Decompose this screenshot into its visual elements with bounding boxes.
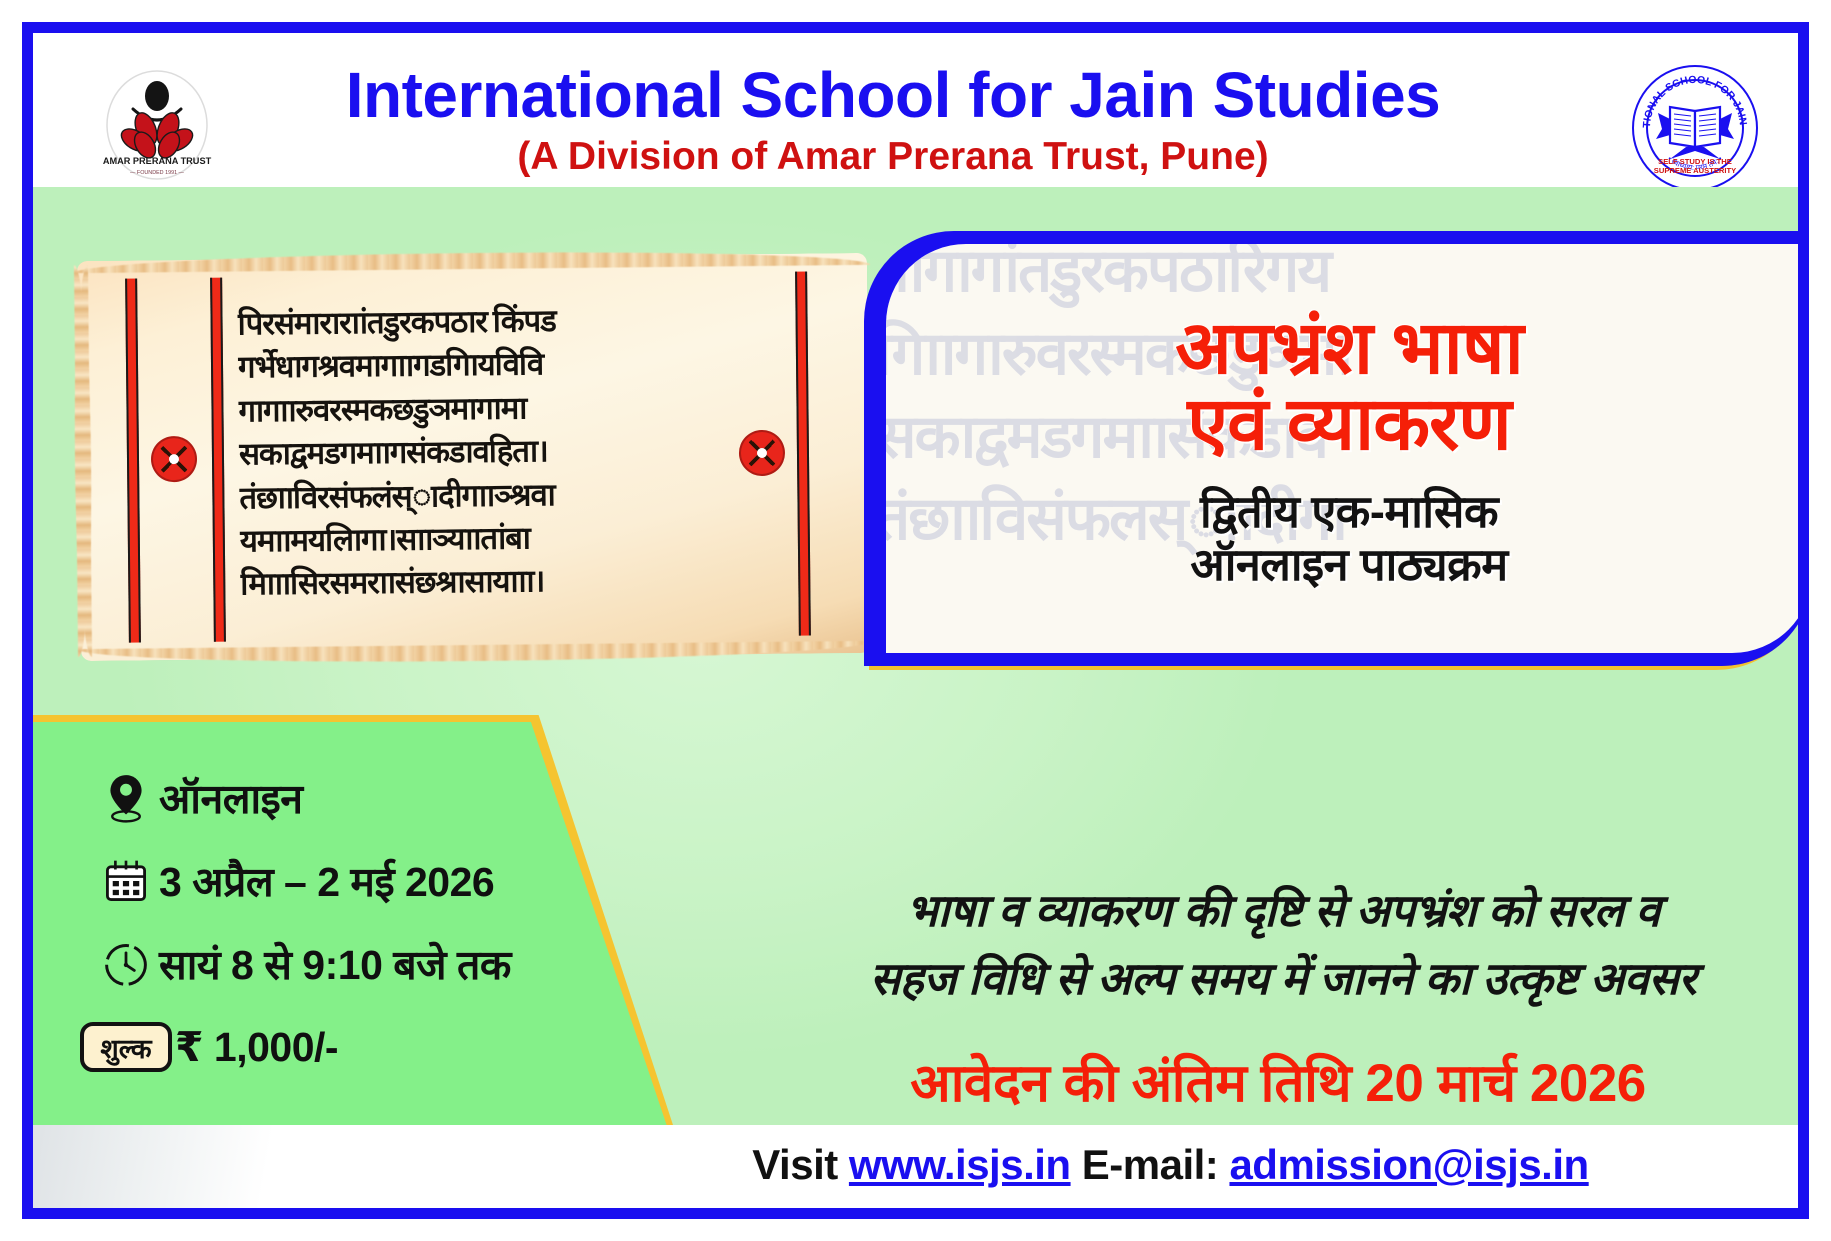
poster-header: AMAR PRERANA TRUST — FOUNDED 1991 — Inte…: [33, 33, 1798, 187]
info-item-mode: ऑनलाइन: [93, 767, 613, 829]
poster-frame: AMAR PRERANA TRUST — FOUNDED 1991 — Inte…: [22, 22, 1809, 1219]
manuscript-line: तंछााविरसंफलंस्ादीगााञ्श्रवा: [239, 471, 807, 520]
location-pin-icon: [93, 772, 159, 824]
manuscript-rosette-left: [151, 436, 197, 482]
info-label-time: सायं 8 से 9:10 बजे तक: [159, 936, 511, 992]
banner-content: अपभ्रंश भाषा एवं व्याकरण द्वितीय एक-मासि…: [886, 244, 1809, 653]
banner-inner-panel: गागागांतडुरकपठारिगय गाािगारुवरस्मकछडुञमा…: [886, 244, 1809, 653]
poster-body: पिरसंमाराराांतडुरकपठार किंपड गर्भेधागश्र…: [33, 187, 1798, 1125]
manuscript-line: गर्भेधागश्रवमागाागडगिायविवि: [238, 341, 806, 390]
calendar-icon: [93, 858, 159, 904]
info-item-fee: शुल्क ₹ 1,000/-: [93, 1016, 613, 1078]
fee-badge-icon: शुल्क: [93, 1022, 159, 1072]
email-label: E-mail:: [1071, 1141, 1230, 1188]
footer-shade: [33, 1125, 303, 1208]
manuscript-text: पिरसंमाराराांतडुरकपठार किंपड गर्भेधागश्र…: [237, 298, 808, 630]
page-subtitle: (A Division of Amar Prerana Trust, Pune): [183, 137, 1603, 176]
course-title-line1: अपभ्रंश भाषा: [1175, 310, 1523, 386]
course-title-line2: एवं व्याकरण: [1187, 386, 1511, 462]
manuscript-line: यमाामयलिागा।सााञ्याातांबा: [240, 514, 808, 563]
trust-logo-founded: — FOUNDED 1991 —: [130, 170, 185, 176]
course-subtitle-line1: द्वितीय एक-मासिक: [1200, 485, 1498, 538]
info-label-mode: ऑनलाइन: [159, 770, 303, 826]
info-item-time: सायं 8 से 9:10 बजे तक: [93, 933, 613, 995]
description-line1: भाषा व व्याकरण की दृष्टि से अपभ्रंश को स…: [753, 877, 1809, 945]
email-link[interactable]: admission@isjs.in: [1229, 1141, 1588, 1188]
manuscript-line: मााािसिरसमराासंछश्रासायााा।: [240, 558, 808, 607]
clock-icon: [93, 940, 159, 988]
course-title-banner: गागागांतडुरकपठारिगय गाािगारुवरस्मकछडुञमा…: [873, 231, 1809, 666]
course-subtitle-line2: ऑनलाइन पाठ्यक्रम: [1190, 538, 1507, 591]
info-item-list: ऑनलाइन: [93, 767, 613, 1099]
visit-label: Visit: [752, 1141, 849, 1188]
course-info-panel: ऑनलाइन: [33, 715, 673, 1125]
info-label-fee: ₹ 1,000/-: [175, 1023, 338, 1071]
isjs-motto-line1: SELF STUDY IS THE: [1658, 157, 1732, 166]
apabhramsha-manuscript-image: पिरसंमाराराांतडुरकपठार किंपड गर्भेधागश्र…: [77, 253, 871, 661]
info-label-dates: 3 अप्रैल – 2 मई 2026: [159, 853, 494, 909]
poster-footer: Visit www.isjs.in E-mail: admission@isjs…: [33, 1125, 1798, 1208]
manuscript-line: सकाद्वमडगमाागसंकडावहिता।: [239, 428, 807, 477]
fee-badge-label: शुल्क: [80, 1022, 172, 1072]
manuscript-line: गागाारुवरस्मकछडुञमागामा: [238, 384, 806, 433]
application-deadline: आवेदन की अंतिम तिथि 20 मार्च 2026: [733, 1055, 1809, 1113]
website-link[interactable]: www.isjs.in: [849, 1141, 1071, 1188]
info-item-dates: 3 अप्रैल – 2 मई 2026: [93, 850, 613, 912]
page-title: International School for Jain Studies: [183, 63, 1603, 127]
poster-root: AMAR PRERANA TRUST — FOUNDED 1991 — Inte…: [0, 0, 1831, 1241]
isjs-motto-line2: SUPREME AUSTERITY: [1654, 166, 1736, 175]
course-description: भाषा व व्याकरण की दृष्टि से अपभ्रंश को स…: [753, 877, 1809, 1014]
isjs-seal-logo: INTERNATIONAL SCHOOL FOR JAIN STUDIES • …: [1630, 63, 1760, 193]
manuscript-line: पिरसंमाराराांतडुरकपठार किंपड: [237, 298, 805, 347]
description-line2: सहज विधि से अल्प समय में जानने का उत्कृष…: [753, 945, 1809, 1013]
contact-line: Visit www.isjs.in E-mail: admission@isjs…: [573, 1141, 1768, 1189]
